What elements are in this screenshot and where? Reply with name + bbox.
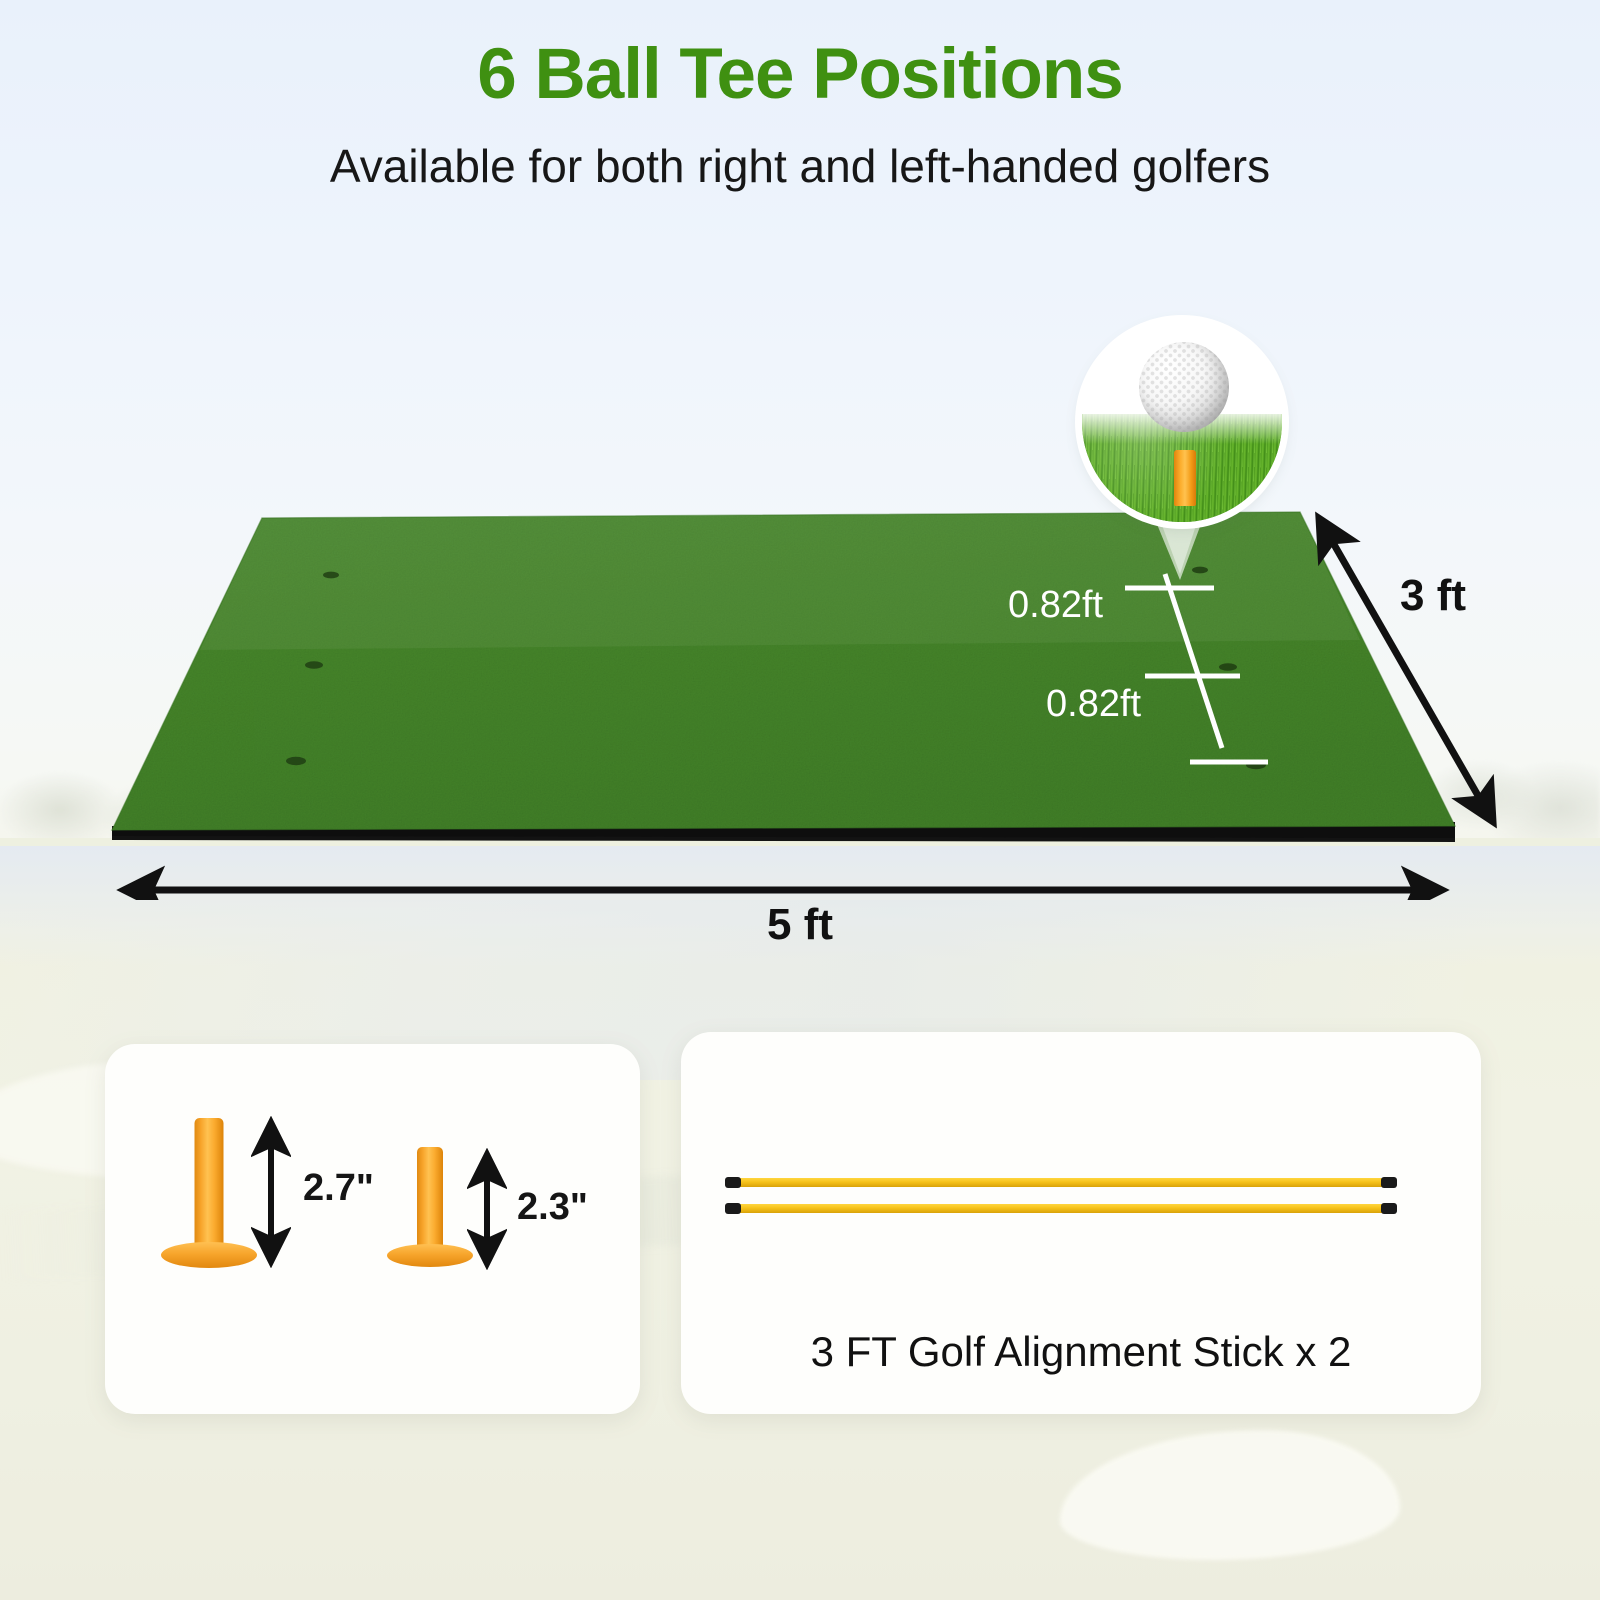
ball-on-tee-magnifier bbox=[1082, 322, 1282, 522]
alignment-sticks-icon bbox=[721, 1162, 1401, 1222]
width-dimension-label: 5 ft bbox=[0, 900, 1600, 950]
short-tee-height-label: 2.3" bbox=[517, 1186, 588, 1229]
mat-illustration bbox=[0, 0, 1600, 900]
alignment-sticks-card: 3 FT Golf Alignment Stick x 2 bbox=[681, 1032, 1481, 1414]
alignment-sticks-caption: 3 FT Golf Alignment Stick x 2 bbox=[681, 1328, 1481, 1376]
tee-spacing-label-upper: 0.82ft bbox=[1008, 584, 1103, 627]
callout-tee-icon bbox=[1174, 450, 1196, 506]
tall-tee-height-label: 2.7" bbox=[303, 1167, 374, 1210]
tee-spacing-label-lower: 0.82ft bbox=[1046, 683, 1141, 726]
tall-rubber-tee-icon bbox=[161, 1118, 257, 1268]
tall-tee-dimension-arrow bbox=[251, 1116, 291, 1268]
depth-dimension-label: 3 ft bbox=[1400, 571, 1466, 621]
short-rubber-tee-icon bbox=[387, 1147, 473, 1267]
short-tee-dimension-arrow bbox=[467, 1148, 507, 1270]
callout-ball-dimples bbox=[1139, 342, 1229, 432]
infographic-canvas: 6 Ball Tee Positions Available for both … bbox=[0, 0, 1600, 1600]
rubber-tees-card: 2.7" 2.3" bbox=[105, 1044, 640, 1414]
